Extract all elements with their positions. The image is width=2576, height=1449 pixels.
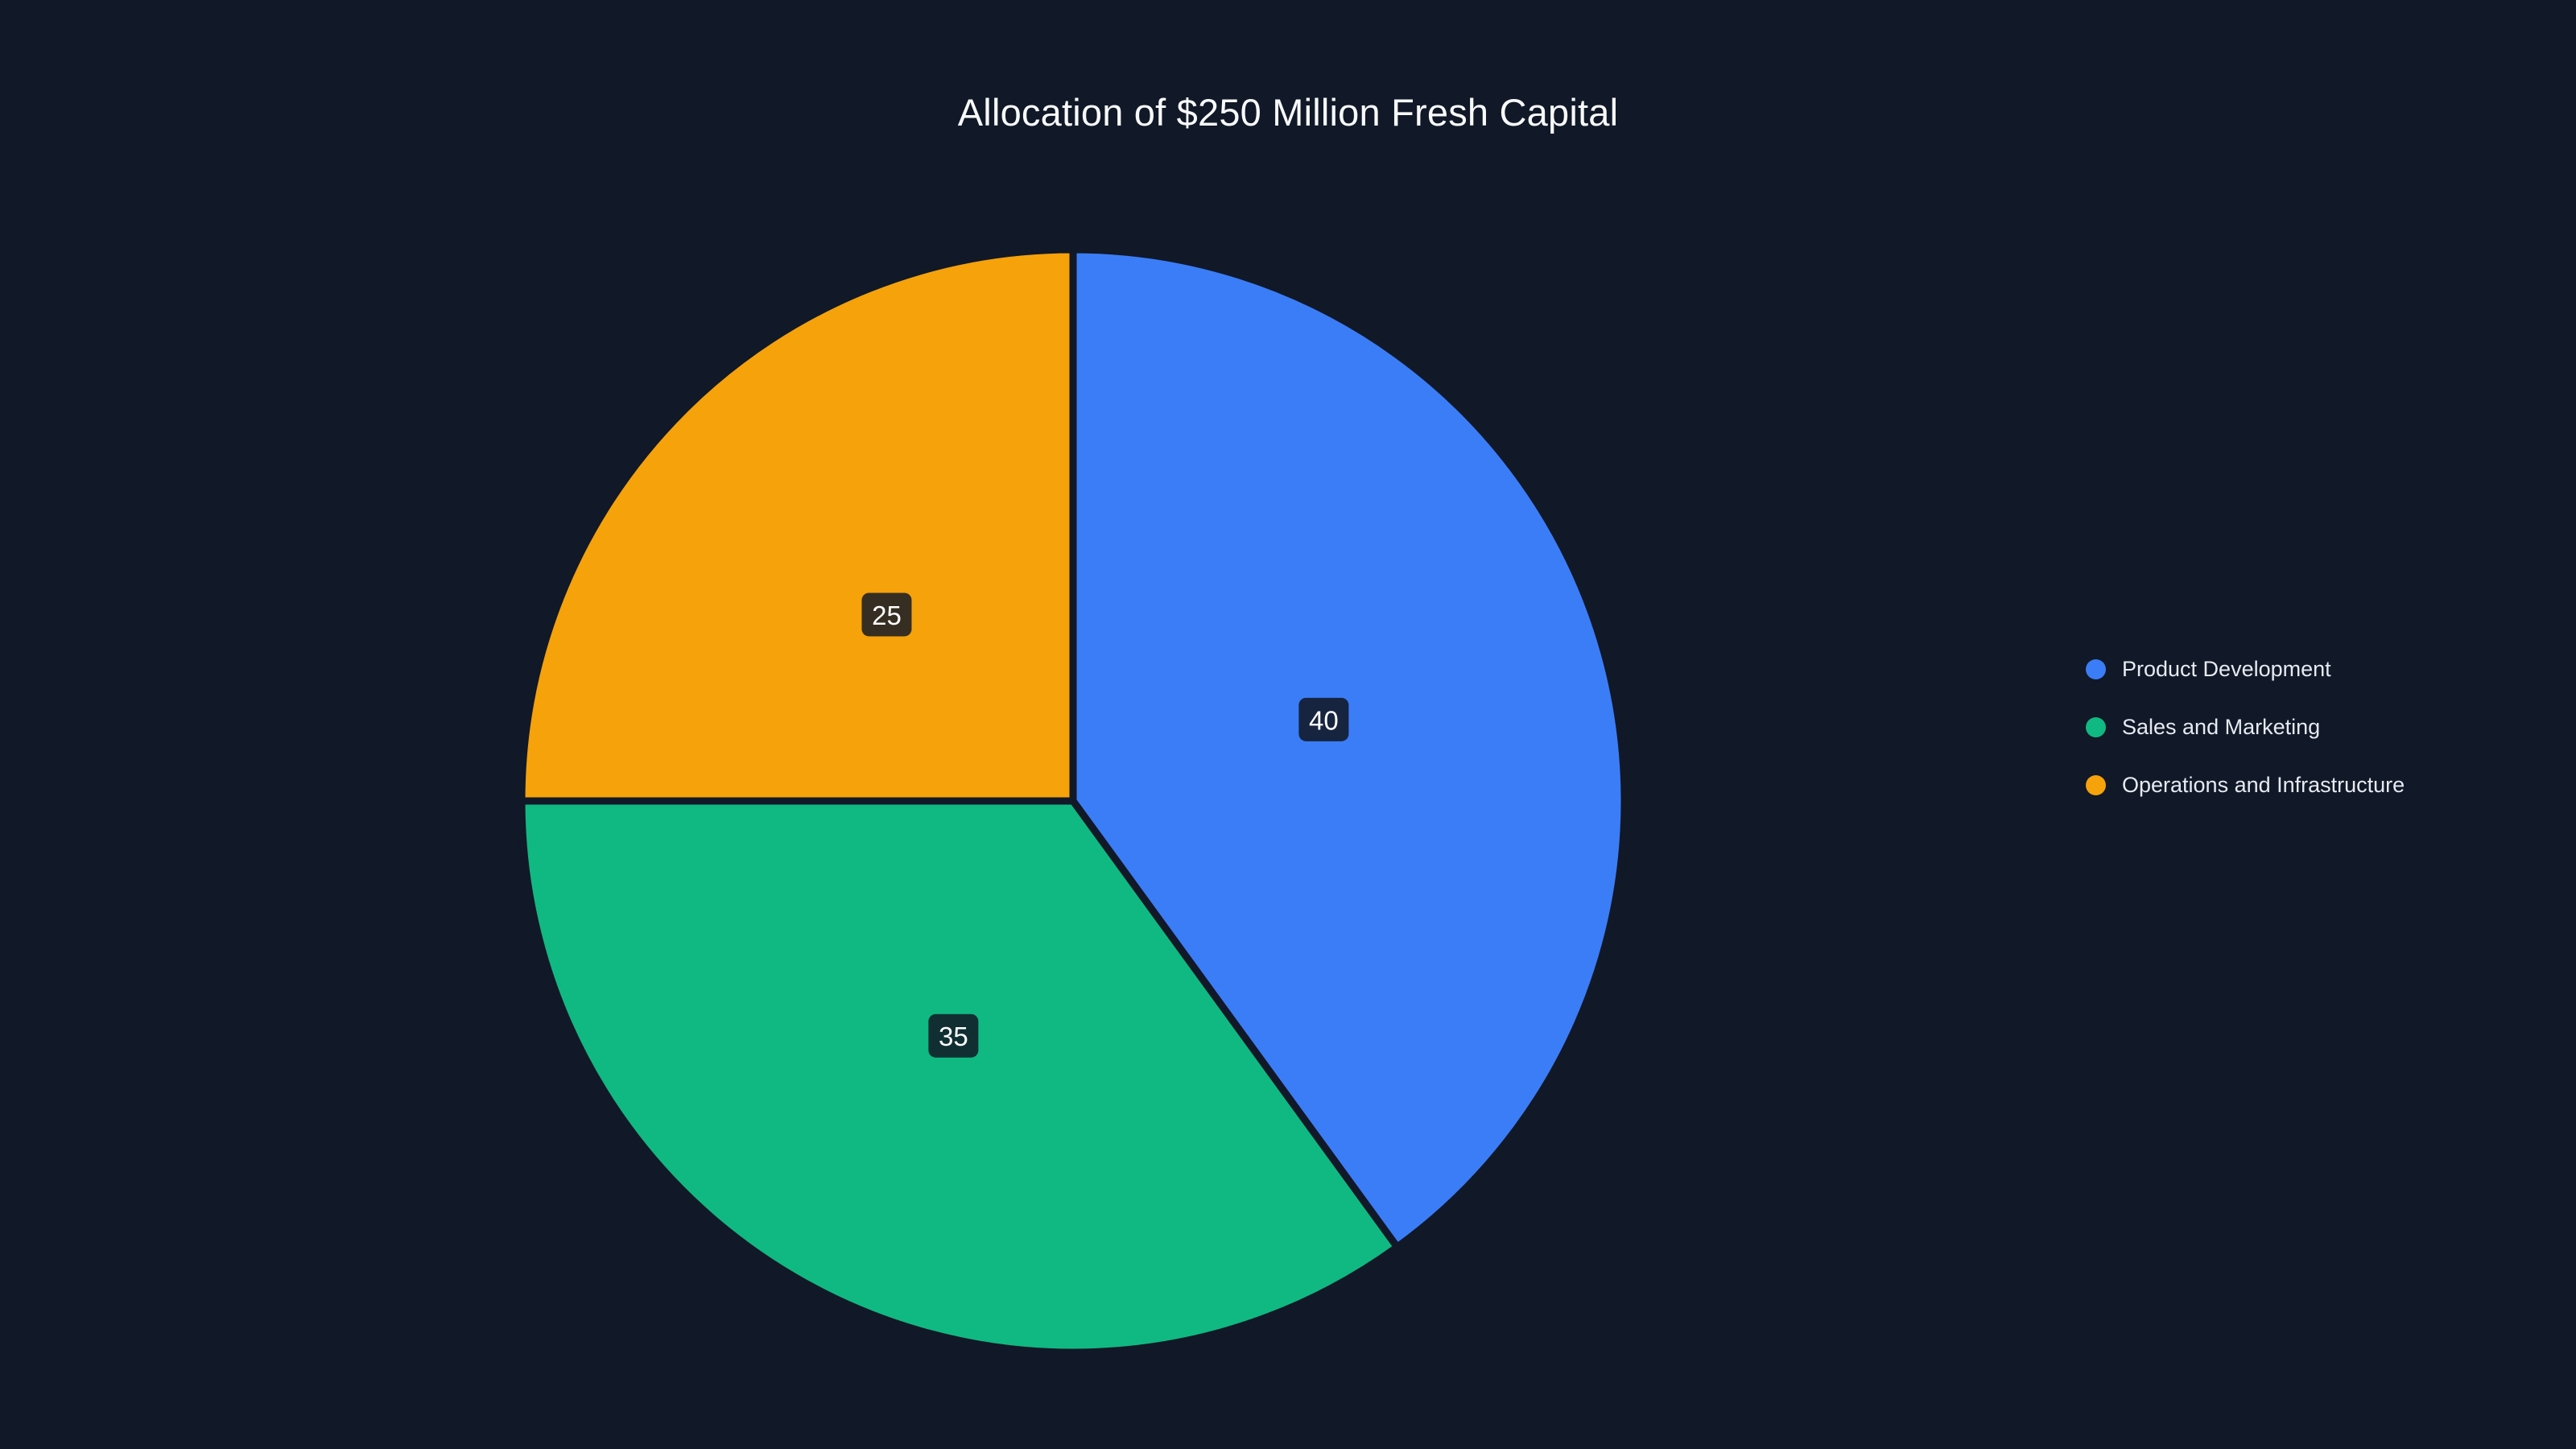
legend-label-sales-and-marketing: Sales and Marketing <box>2122 716 2320 738</box>
legend-item-sales-and-marketing[interactable]: Sales and Marketing <box>2086 698 2537 756</box>
legend-swatch-product-development <box>2086 659 2106 679</box>
legend-swatch-sales-and-marketing <box>2086 717 2106 737</box>
pie-slices-group <box>522 250 1624 1352</box>
pie-slice[interactable] <box>522 250 1073 801</box>
legend-item-operations-and-infrastructure[interactable]: Operations and Infrastructure <box>2086 756 2537 814</box>
pie-chart-figure: Allocation of $250 Million Fresh Capital… <box>0 0 2576 1449</box>
pie-data-label-text: 25 <box>872 601 902 630</box>
pie-data-label-text: 35 <box>939 1022 968 1051</box>
pie-data-label-text: 40 <box>1309 705 1339 735</box>
legend-label-product-development: Product Development <box>2122 658 2331 680</box>
legend-swatch-operations-and-infrastructure <box>2086 775 2106 795</box>
legend-item-product-development[interactable]: Product Development <box>2086 640 2537 698</box>
legend-label-operations-and-infrastructure: Operations and Infrastructure <box>2122 774 2405 796</box>
chart-legend: Product Development Sales and Marketing … <box>2086 640 2537 814</box>
